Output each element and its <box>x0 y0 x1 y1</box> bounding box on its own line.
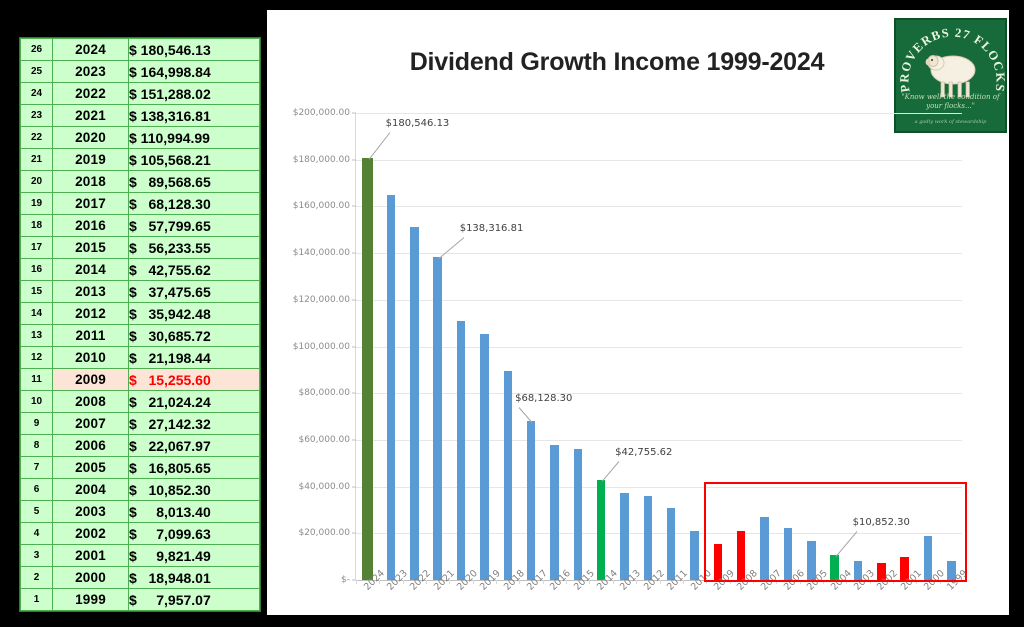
logo-tagline: "Know well the condition of your flocks.… <box>896 93 1005 111</box>
table-row[interactable]: 232021$ 138,316.81 <box>21 105 260 127</box>
row-number-cell: 15 <box>21 281 53 303</box>
y-axis-tick-label: $140,000.00 <box>293 248 350 258</box>
dividend-table-panel: 262024$ 180,546.13252023$ 164,998.842420… <box>19 37 261 612</box>
y-axis-tick-mark <box>352 533 356 534</box>
year-cell[interactable]: 2019 <box>53 149 129 171</box>
y-axis-tick-mark <box>352 113 356 114</box>
year-cell[interactable]: 2010 <box>53 347 129 369</box>
amount-cell[interactable]: $ 16,805.65 <box>129 457 260 479</box>
row-number-cell: 13 <box>21 325 53 347</box>
table-row[interactable]: 132011$ 30,685.72 <box>21 325 260 347</box>
amount-cell[interactable]: $ 151,288.02 <box>129 83 260 105</box>
y-axis-tick-label: $- <box>341 575 350 585</box>
data-label-2024: $180,546.13 <box>386 118 450 129</box>
data-label-2004: $10,852.30 <box>853 517 910 528</box>
row-number-cell: 9 <box>21 413 53 435</box>
row-number-cell: 24 <box>21 83 53 105</box>
bar-2015[interactable] <box>574 449 583 580</box>
data-label-2017: $68,128.30 <box>515 393 572 404</box>
x-axis-tick-mark <box>356 580 357 584</box>
row-number-cell: 18 <box>21 215 53 237</box>
x-axis-tick-mark <box>426 580 427 584</box>
bar-2018[interactable] <box>504 371 513 580</box>
amount-cell[interactable]: $ 180,546.13 <box>129 39 260 61</box>
table-row[interactable]: 142012$ 35,942.48 <box>21 303 260 325</box>
year-cell[interactable]: 2005 <box>53 457 129 479</box>
x-axis-tick-mark <box>613 580 614 584</box>
bar-2020[interactable] <box>457 321 466 580</box>
x-axis-tick-mark <box>706 580 707 584</box>
y-axis-tick-label: $20,000.00 <box>298 528 350 538</box>
bar-2024[interactable] <box>362 158 373 580</box>
data-label-leader-line <box>519 407 533 423</box>
y-gridline <box>356 347 962 348</box>
row-number-cell: 12 <box>21 347 53 369</box>
row-number-cell: 17 <box>21 237 53 259</box>
amount-cell[interactable]: $ 56,233.55 <box>129 237 260 259</box>
amount-cell[interactable]: $ 164,998.84 <box>129 61 260 83</box>
year-cell[interactable]: 2024 <box>53 39 129 61</box>
year-cell[interactable]: 2009 <box>53 369 129 391</box>
row-number-cell: 11 <box>21 369 53 391</box>
table-row[interactable]: 11999$ 7,957.07 <box>21 589 260 611</box>
y-axis-tick-label: $60,000.00 <box>298 435 350 445</box>
table-row[interactable]: 252023$ 164,998.84 <box>21 61 260 83</box>
row-number-cell: 5 <box>21 501 53 523</box>
x-axis-tick-mark <box>566 580 567 584</box>
data-label-leader-line <box>602 461 620 482</box>
y-gridline <box>356 113 962 114</box>
y-gridline <box>356 487 962 488</box>
year-cell[interactable]: 2011 <box>53 325 129 347</box>
x-axis-tick-mark <box>800 580 801 584</box>
data-label-leader-line <box>438 237 464 259</box>
row-number-cell: 6 <box>21 479 53 501</box>
bar-2021[interactable] <box>433 257 442 580</box>
y-gridline <box>356 393 962 394</box>
amount-cell[interactable]: $ 21,024.24 <box>129 391 260 413</box>
amount-cell[interactable]: $ 7,099.63 <box>129 523 260 545</box>
y-axis-tick-label: $200,000.00 <box>293 108 350 118</box>
bar-2011[interactable] <box>667 508 676 580</box>
y-axis-tick-mark <box>352 486 356 487</box>
table-row[interactable]: 262024$ 180,546.13 <box>21 39 260 61</box>
x-axis-tick-mark <box>473 580 474 584</box>
table-row[interactable]: 162014$ 42,755.62 <box>21 259 260 281</box>
table-row[interactable]: 212019$ 105,568.21 <box>21 149 260 171</box>
amount-cell[interactable]: $ 9,821.49 <box>129 545 260 567</box>
x-axis-tick-mark <box>543 580 544 584</box>
year-cell[interactable]: 2020 <box>53 127 129 149</box>
y-axis-tick-label: $180,000.00 <box>293 155 350 165</box>
year-cell[interactable]: 2022 <box>53 83 129 105</box>
year-cell[interactable]: 2017 <box>53 193 129 215</box>
year-cell[interactable]: 2007 <box>53 413 129 435</box>
year-cell[interactable]: 2002 <box>53 523 129 545</box>
table-row[interactable]: 202018$ 89,568.65 <box>21 171 260 193</box>
table-row[interactable]: 192017$ 68,128.30 <box>21 193 260 215</box>
amount-cell[interactable]: $ 27,142.32 <box>129 413 260 435</box>
x-axis-tick-mark <box>730 580 731 584</box>
bar-2008[interactable] <box>737 531 746 580</box>
table-row[interactable]: 222020$ 110,994.99 <box>21 127 260 149</box>
amount-cell[interactable]: $ 30,685.72 <box>129 325 260 347</box>
table-row[interactable]: 102008$ 21,024.24 <box>21 391 260 413</box>
y-axis-tick-mark <box>352 299 356 300</box>
amount-cell[interactable]: $ 138,316.81 <box>129 105 260 127</box>
x-axis-tick-mark <box>893 580 894 584</box>
year-cell[interactable]: 2003 <box>53 501 129 523</box>
amount-cell[interactable]: $ 57,799.65 <box>129 215 260 237</box>
x-axis-tick-mark <box>379 580 380 584</box>
table-row[interactable]: 112009$ 15,255.60 <box>21 369 260 391</box>
x-axis-tick-mark <box>823 580 824 584</box>
x-axis-tick-mark <box>496 580 497 584</box>
data-label-2014: $42,755.62 <box>615 447 672 458</box>
bar-2014[interactable] <box>597 480 606 580</box>
y-axis-tick-label: $100,000.00 <box>293 342 350 352</box>
row-number-cell: 16 <box>21 259 53 281</box>
row-number-cell: 26 <box>21 39 53 61</box>
x-axis-tick-mark <box>753 580 754 584</box>
y-axis-tick-mark <box>352 393 356 394</box>
row-number-cell: 8 <box>21 435 53 457</box>
row-number-cell: 4 <box>21 523 53 545</box>
amount-cell[interactable]: $ 15,255.60 <box>129 369 260 391</box>
y-axis-tick-label: $80,000.00 <box>298 388 350 398</box>
table-row[interactable]: 52003$ 8,013.40 <box>21 501 260 523</box>
row-number-cell: 7 <box>21 457 53 479</box>
y-axis-tick-mark <box>352 206 356 207</box>
table-row[interactable]: 242022$ 151,288.02 <box>21 83 260 105</box>
x-axis-tick-mark <box>636 580 637 584</box>
year-cell[interactable]: 2018 <box>53 171 129 193</box>
bar-2023[interactable] <box>387 195 396 580</box>
bar-2013[interactable] <box>620 493 629 581</box>
x-axis-tick-mark <box>589 580 590 584</box>
y-axis-tick-mark <box>352 159 356 160</box>
row-number-cell: 20 <box>21 171 53 193</box>
year-cell[interactable]: 2021 <box>53 105 129 127</box>
y-axis-tick-label: $120,000.00 <box>293 295 350 305</box>
data-label-leader-line <box>368 133 390 161</box>
data-label-leader-line <box>835 531 857 557</box>
year-cell[interactable]: 2014 <box>53 259 129 281</box>
y-gridline <box>356 300 962 301</box>
y-axis-tick-label: $160,000.00 <box>293 201 350 211</box>
bar-2006[interactable] <box>784 528 793 580</box>
y-axis-tick-mark <box>352 253 356 254</box>
row-number-cell: 21 <box>21 149 53 171</box>
x-axis-tick-mark <box>660 580 661 584</box>
x-axis-tick-mark <box>916 580 917 584</box>
row-number-cell: 3 <box>21 545 53 567</box>
year-cell[interactable]: 2015 <box>53 237 129 259</box>
screenshot-root: 262024$ 180,546.13252023$ 164,998.842420… <box>0 0 1024 627</box>
table-row[interactable]: 82006$ 22,067.97 <box>21 435 260 457</box>
y-axis-tick-mark <box>352 439 356 440</box>
amount-cell[interactable]: $ 110,994.99 <box>129 127 260 149</box>
amount-cell[interactable]: $ 21,198.44 <box>129 347 260 369</box>
amount-cell[interactable]: $ 68,128.30 <box>129 193 260 215</box>
year-cell[interactable]: 2008 <box>53 391 129 413</box>
year-cell[interactable]: 1999 <box>53 589 129 611</box>
row-number-cell: 23 <box>21 105 53 127</box>
x-axis-tick-mark <box>940 580 941 584</box>
year-cell[interactable]: 2016 <box>53 215 129 237</box>
year-cell[interactable]: 2004 <box>53 479 129 501</box>
y-gridline <box>356 160 962 161</box>
row-number-cell: 25 <box>21 61 53 83</box>
y-axis-tick-mark <box>352 346 356 347</box>
row-number-cell: 14 <box>21 303 53 325</box>
y-axis-tick-label: $40,000.00 <box>298 482 350 492</box>
bar-2010[interactable] <box>690 531 699 580</box>
table-row[interactable]: 182016$ 57,799.65 <box>21 215 260 237</box>
bar-2012[interactable] <box>644 496 653 580</box>
row-number-cell: 1 <box>21 589 53 611</box>
bar-2022[interactable] <box>410 227 419 580</box>
table-row[interactable]: 92007$ 27,142.32 <box>21 413 260 435</box>
bar-2017[interactable] <box>527 421 536 580</box>
x-axis-tick-mark <box>683 580 684 584</box>
amount-cell[interactable]: $ 10,852.30 <box>129 479 260 501</box>
year-cell[interactable]: 2001 <box>53 545 129 567</box>
x-axis-tick-mark <box>519 580 520 584</box>
page-title: Dividend Growth Income 1999-2024 <box>267 48 967 77</box>
bar-2016[interactable] <box>550 445 559 580</box>
table-row[interactable]: 42002$ 7,099.63 <box>21 523 260 545</box>
year-cell[interactable]: 2023 <box>53 61 129 83</box>
amount-cell[interactable]: $ 22,067.97 <box>129 435 260 457</box>
year-cell[interactable]: 2013 <box>53 281 129 303</box>
x-axis-tick-mark <box>449 580 450 584</box>
bar-2019[interactable] <box>480 334 489 581</box>
y-gridline <box>356 253 962 254</box>
data-label-2021: $138,316.81 <box>460 223 524 234</box>
bar-2007[interactable] <box>760 517 769 580</box>
table-row[interactable]: 172015$ 56,233.55 <box>21 237 260 259</box>
dividend-table: 262024$ 180,546.13252023$ 164,998.842420… <box>20 38 260 611</box>
x-axis-tick-mark <box>403 580 404 584</box>
table-row[interactable]: 22000$ 18,948.01 <box>21 567 260 589</box>
y-gridline <box>356 440 962 441</box>
table-row[interactable]: 122010$ 21,198.44 <box>21 347 260 369</box>
x-axis-tick-mark <box>776 580 777 584</box>
amount-cell[interactable]: $ 18,948.01 <box>129 567 260 589</box>
year-cell[interactable]: 2000 <box>53 567 129 589</box>
amount-cell[interactable]: $ 8,013.40 <box>129 501 260 523</box>
row-number-cell: 2 <box>21 567 53 589</box>
amount-cell[interactable]: $ 105,568.21 <box>129 149 260 171</box>
row-number-cell: 22 <box>21 127 53 149</box>
year-cell[interactable]: 2006 <box>53 435 129 457</box>
x-axis-tick-mark <box>870 580 871 584</box>
chart-panel: Dividend Growth Income 1999-2024 PROVERB… <box>267 10 1009 615</box>
y-gridline <box>356 206 962 207</box>
bar-chart-plot-area: $200,000.00$180,000.00$160,000.00$140,00… <box>355 113 962 580</box>
amount-cell[interactable]: $ 7,957.07 <box>129 589 260 611</box>
table-row[interactable]: 32001$ 9,821.49 <box>21 545 260 567</box>
y-gridline <box>356 533 962 534</box>
table-row[interactable]: 62004$ 10,852.30 <box>21 479 260 501</box>
bar-2000[interactable] <box>924 536 933 580</box>
table-row[interactable]: 72005$ 16,805.65 <box>21 457 260 479</box>
amount-cell[interactable]: $ 37,475.65 <box>129 281 260 303</box>
x-axis-tick-mark <box>846 580 847 584</box>
year-cell[interactable]: 2012 <box>53 303 129 325</box>
amount-cell[interactable]: $ 35,942.48 <box>129 303 260 325</box>
amount-cell[interactable]: $ 89,568.65 <box>129 171 260 193</box>
table-row[interactable]: 152013$ 37,475.65 <box>21 281 260 303</box>
row-number-cell: 10 <box>21 391 53 413</box>
amount-cell[interactable]: $ 42,755.62 <box>129 259 260 281</box>
row-number-cell: 19 <box>21 193 53 215</box>
